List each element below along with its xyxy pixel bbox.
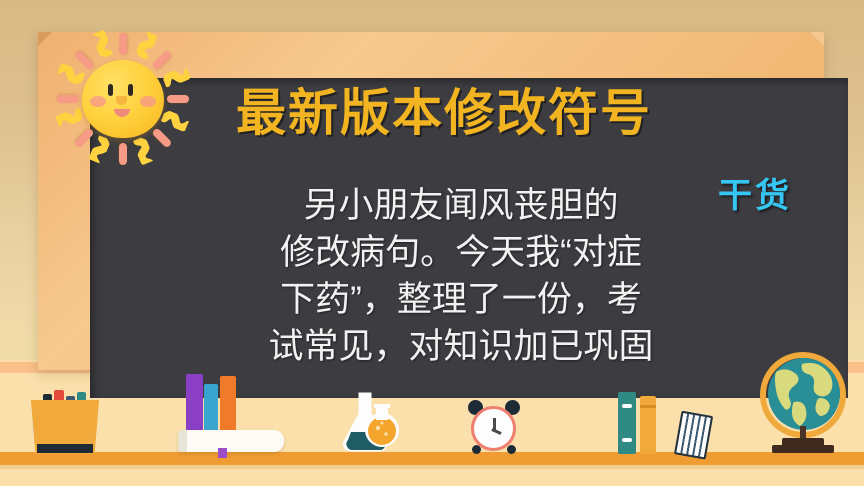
flask-icon — [338, 392, 408, 454]
sun-eye-right — [128, 84, 133, 96]
page-title: 最新版本修改符号 — [236, 88, 736, 138]
desk-globe — [754, 352, 854, 454]
globe-base-lower — [772, 445, 834, 453]
slide-canvas: 最新版本修改符号 干货 另小朋友闻风丧胆的 修改病句。今天我“对症 下药”，整理… — [0, 0, 864, 486]
body-line-2: 修改病句。今天我“对症 — [236, 229, 686, 276]
stacked-books — [178, 376, 288, 454]
body-line-4: 试常见，对知识加已巩固 — [236, 323, 686, 370]
body-line-3: 下药”，整理了一份，考 — [236, 276, 686, 323]
body-text: 另小朋友闻风丧胆的 修改病句。今天我“对症 下药”，整理了一份，考 试常见，对知… — [236, 182, 686, 370]
sun-mouth — [114, 109, 130, 117]
sun-cheek-right — [140, 96, 156, 107]
alarm-clock — [466, 398, 522, 454]
book-teal-band-bottom — [622, 438, 632, 442]
book-flat — [178, 430, 284, 452]
book-orange — [220, 376, 236, 430]
sun-nose — [116, 96, 127, 105]
frame-bevel-top-right — [810, 32, 824, 46]
body-line-1: 另小朋友闻风丧胆的 — [236, 182, 686, 229]
clock-foot-right — [507, 445, 516, 454]
sun-icon — [36, 14, 206, 184]
clock-face — [471, 406, 516, 451]
standing-books — [612, 390, 722, 454]
book-teal — [618, 392, 636, 454]
shelf-board — [0, 452, 864, 465]
sun-eye-left — [108, 84, 113, 96]
science-flasks — [338, 392, 408, 454]
book-blue — [204, 384, 218, 430]
cup-base — [37, 444, 93, 453]
shelf-shadow — [0, 465, 864, 469]
globe-sphere — [768, 358, 840, 430]
globe-continents-icon — [768, 358, 840, 430]
sun-face — [82, 60, 164, 138]
status-badge: 干货 — [718, 168, 792, 217]
book-amber-band — [640, 405, 656, 408]
pencil-cup — [28, 382, 102, 454]
book-purple — [186, 374, 203, 430]
book-striped — [674, 411, 713, 460]
book-bookmark — [218, 448, 227, 458]
book-teal-band-top — [622, 404, 632, 408]
clock-hand-minute — [491, 428, 501, 434]
sun-cheek-left — [90, 96, 106, 107]
